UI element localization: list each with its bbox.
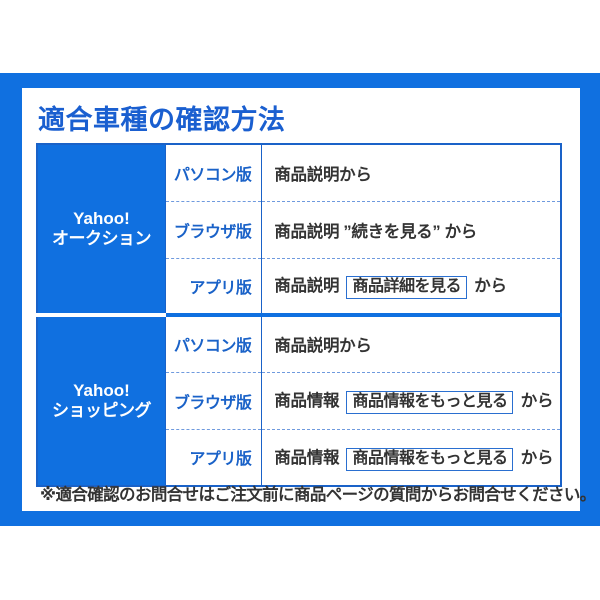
version-label-app: アプリ版	[165, 258, 261, 315]
desc-text-after: から	[521, 392, 553, 410]
desc-text-before: 商品説明から	[274, 337, 371, 355]
brand-cell-shopping: Yahoo! ショッピング	[37, 315, 165, 486]
brand-name-line2: オークション	[38, 229, 165, 249]
brand-cell-auction: Yahoo! オークション	[37, 144, 165, 315]
desc-text-before: 商品説明から	[274, 166, 371, 184]
white-content-panel: 適合車種の確認方法 Yahoo! オークション	[22, 88, 580, 511]
table-row: Yahoo! ショッピング パソコン版 商品説明から	[37, 315, 561, 372]
page-title: 適合車種の確認方法	[38, 98, 286, 137]
brand-name-line1: Yahoo!	[38, 209, 165, 229]
desc-text-after: から	[521, 449, 553, 467]
version-label-browser: ブラウザ版	[165, 372, 261, 429]
footer-note: ※適合確認のお問合せはご注文前に商品ページの質問からお問合せください。	[40, 481, 596, 505]
desc-cell: 商品説明 ”続きを見る” から	[262, 201, 561, 258]
desc-cell: 商品説明 商品詳細を見る から	[262, 258, 561, 315]
page-root: 適合車種の確認方法 Yahoo! オークション	[0, 0, 600, 600]
desc-cell: 商品情報 商品情報をもっと見る から	[262, 429, 561, 486]
version-label-pc: パソコン版	[165, 144, 261, 201]
desc-text-before: 商品情報	[274, 449, 339, 467]
desc-cell: 商品情報 商品情報をもっと見る から	[262, 372, 561, 429]
brand-name-line2: ショッピング	[38, 401, 165, 421]
compatibility-table: Yahoo! オークション パソコン版 商品説明から ブラウザ版 商品説明	[36, 143, 562, 487]
boxed-action-label[interactable]: 商品詳細を見る	[346, 276, 467, 299]
brand-name-line1: Yahoo!	[38, 381, 165, 401]
compatibility-table-wrap: Yahoo! オークション パソコン版 商品説明から ブラウザ版 商品説明	[36, 143, 562, 487]
desc-text-before: 商品説明	[274, 277, 339, 295]
desc-cell: 商品説明から	[262, 315, 561, 372]
boxed-action-label[interactable]: 商品情報をもっと見る	[346, 448, 513, 471]
version-label-pc: パソコン版	[165, 315, 261, 372]
desc-text-before: 商品情報	[274, 392, 339, 410]
desc-cell: 商品説明から	[262, 144, 561, 201]
desc-text-after: から	[474, 277, 506, 295]
boxed-action-label[interactable]: 商品情報をもっと見る	[346, 391, 513, 414]
version-label-browser: ブラウザ版	[165, 201, 261, 258]
desc-text-before: 商品説明 ”続きを見る” から	[274, 223, 477, 241]
table-row: Yahoo! オークション パソコン版 商品説明から	[37, 144, 561, 201]
blue-banner-frame: 適合車種の確認方法 Yahoo! オークション	[0, 73, 600, 526]
version-label-app: アプリ版	[165, 429, 261, 486]
